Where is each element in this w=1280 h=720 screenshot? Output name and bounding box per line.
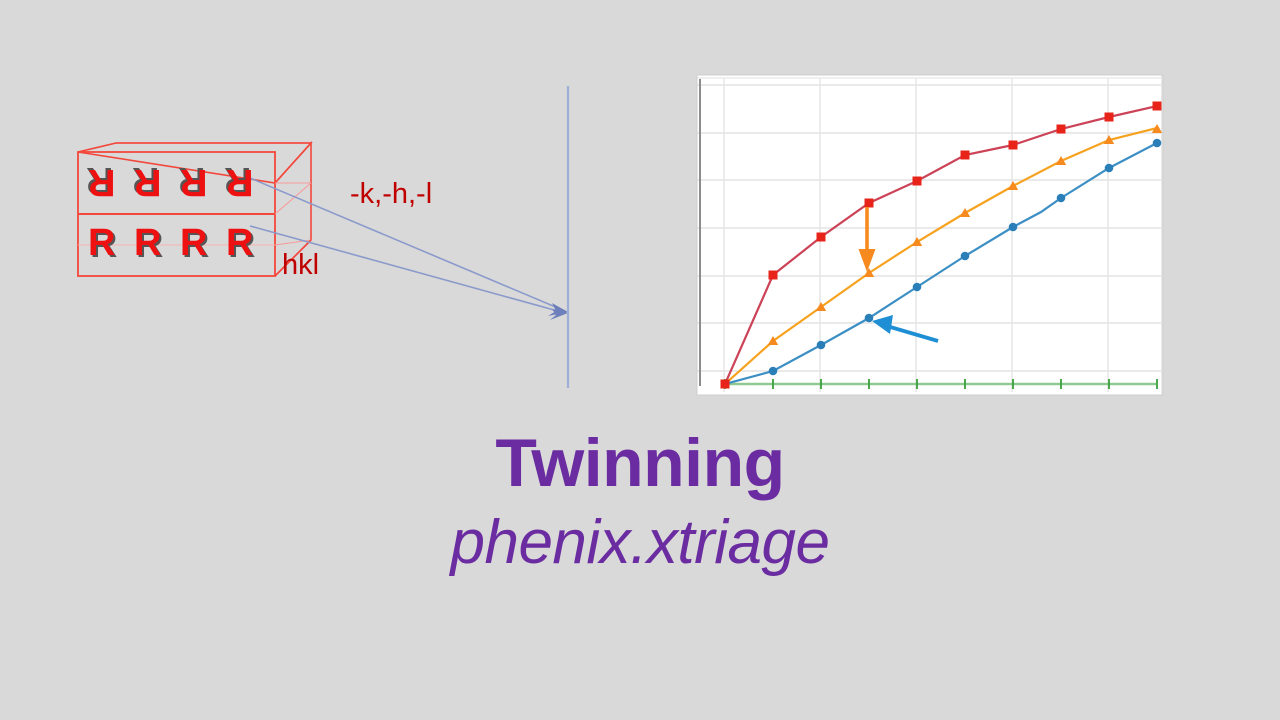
lattice-letter-flipped: R [88, 163, 115, 201]
normal-index-label: hkl [282, 249, 319, 282]
reversed-index-label: -k,-h,-l [350, 178, 432, 211]
series-orange-triangles [725, 124, 1162, 384]
lattice-letter-flipped: R [180, 163, 207, 201]
lattice-letter: R [88, 224, 115, 262]
lattice-letter: R [226, 224, 253, 262]
blue-left-arrow-annotation [872, 315, 938, 341]
slide-title-block: Twinning phenix.xtriage [0, 425, 1280, 585]
lattice-letter: R [180, 224, 207, 262]
vector-graphics-layer [0, 0, 1280, 720]
lattice-letter-flipped: R [134, 163, 161, 201]
series-green-baseline [725, 379, 1157, 389]
orange-down-arrow-annotation [859, 207, 876, 272]
page-subtitle: phenix.xtriage [0, 501, 1280, 585]
lattice-letter-flipped: R [226, 163, 253, 201]
page-title: Twinning [0, 425, 1280, 501]
series-red-squares [721, 102, 1162, 389]
lattice-letter: R [134, 224, 161, 262]
slide-canvas: R R R R R R R R -k,-h,-l hkl Twinning ph… [0, 0, 1280, 720]
